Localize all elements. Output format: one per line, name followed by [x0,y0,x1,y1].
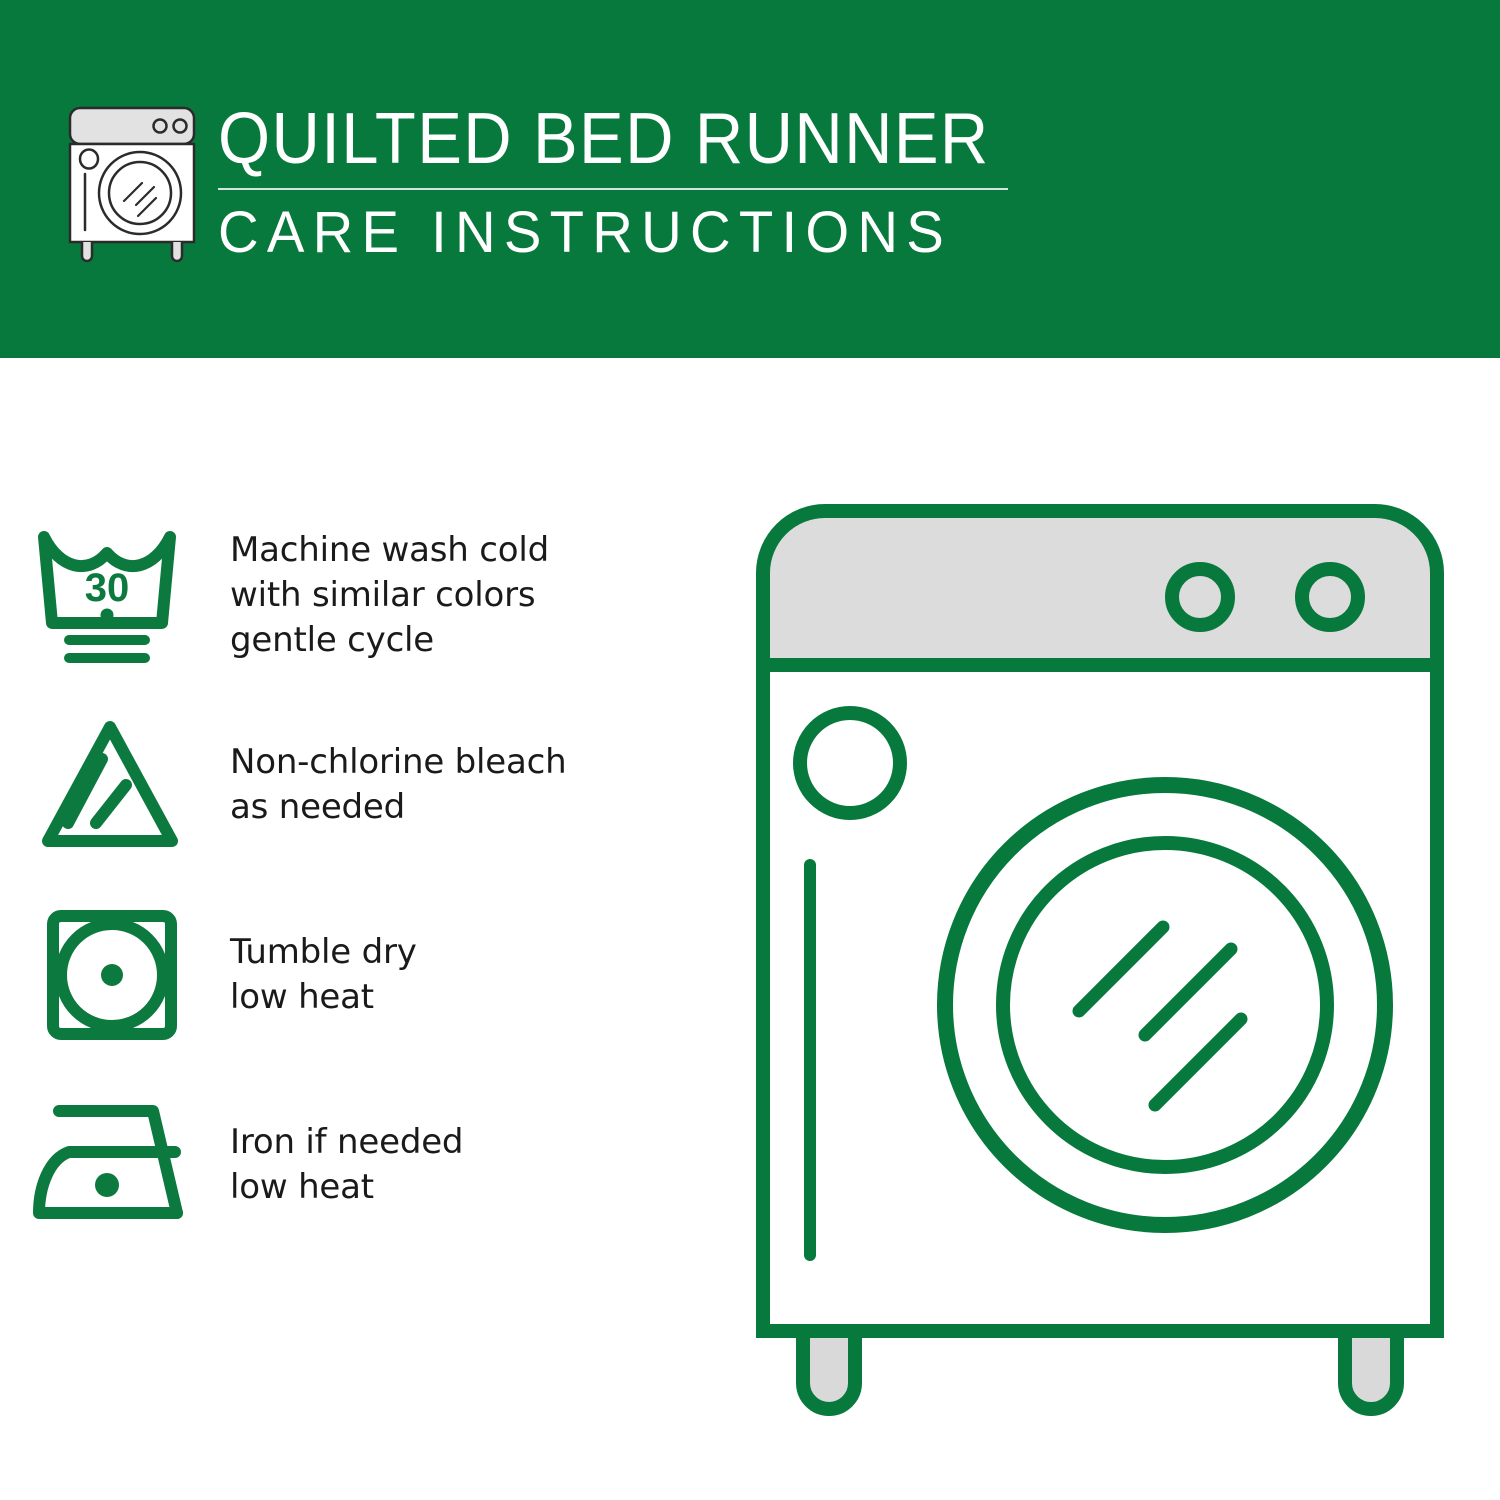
care-label-iron: Iron if needed low heat [230,1120,700,1210]
detergent-drawer-knob [800,713,900,813]
drum-motion-lines [1079,927,1241,1105]
care-label-line: with similar colors [230,573,700,618]
care-row-bleach: Non-chlorine bleach as needed [0,690,700,880]
care-label-line: low heat [230,975,700,1020]
care-instructions-page: QUILTED BED RUNNER CARE INSTRUCTIONS 30 [0,0,1500,1500]
care-row-iron: Iron if needed low heat [0,1070,700,1260]
care-label-tumble-dry: Tumble dry low heat [230,930,700,1020]
leg-right [1345,1331,1397,1409]
care-label-line: Non-chlorine bleach [230,740,700,785]
drum-inner-ring [1003,843,1327,1167]
leg-left [803,1331,855,1409]
care-label-line: as needed [230,785,700,830]
wash-temperature-value: 30 [85,566,130,610]
drum-outer-ring [945,785,1385,1225]
washing-machine-logo-icon [62,104,202,264]
page-title: QUILTED BED RUNNER [218,100,962,178]
care-label-line: Iron if needed [230,1120,700,1165]
care-label-line: low heat [230,1165,700,1210]
care-label-line: Tumble dry [230,930,700,975]
care-label-bleach: Non-chlorine bleach as needed [230,740,700,830]
iron-low-heat-icon [0,1093,230,1238]
care-instruction-list: 30 Machine wash cold with similar colors… [0,500,700,1260]
care-label-line: gentle cycle [230,618,700,663]
care-label-machine-wash: Machine wash cold with similar colors ge… [230,528,700,663]
page-subtitle: CARE INSTRUCTIONS [218,202,994,264]
control-panel-fill [763,511,1437,665]
non-chlorine-bleach-triangle-icon [0,713,230,858]
washing-machine-illustration [745,495,1455,1425]
care-label-line: Machine wash cold [230,528,700,573]
wash-tub-30-gentle-icon: 30 [0,523,230,668]
care-row-machine-wash: 30 Machine wash cold with similar colors… [0,500,700,690]
header-text-block: QUILTED BED RUNNER CARE INSTRUCTIONS [218,100,1018,264]
title-divider [218,188,1008,190]
tumble-dry-low-heat-icon [0,903,230,1048]
header-banner: QUILTED BED RUNNER CARE INSTRUCTIONS [0,0,1500,358]
care-row-tumble-dry: Tumble dry low heat [0,880,700,1070]
